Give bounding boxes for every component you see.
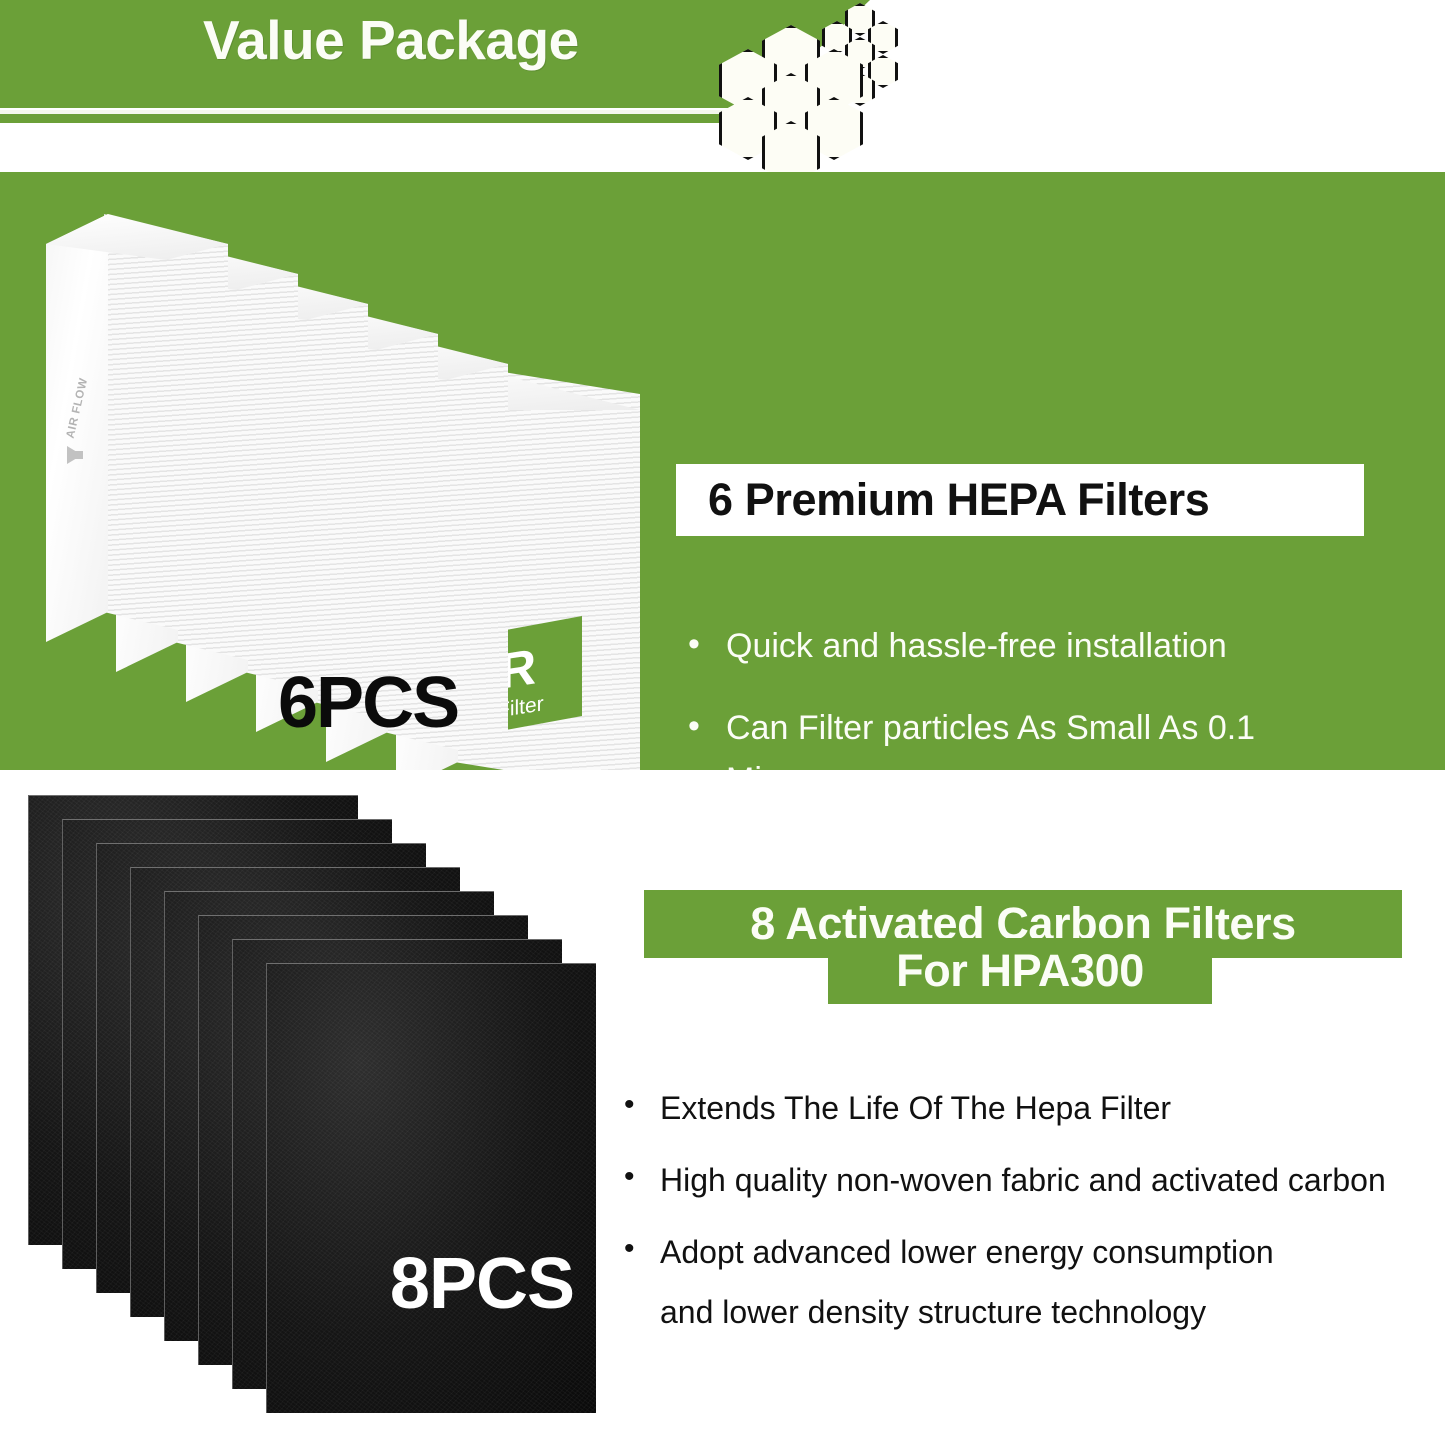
carbon-heading-text-line2: For HPA300: [896, 945, 1144, 997]
list-item-line2: and lower density structure technology: [660, 1290, 1445, 1334]
filter-pleated-side: [104, 214, 228, 642]
hepa-quantity-label: 6PCS: [278, 662, 458, 744]
list-item: Can Filter particles As Small As 0.1 Mic…: [676, 702, 1376, 770]
list-item: High quality non-woven fabric and activa…: [612, 1158, 1445, 1202]
carbon-feature-list: Extends The Life Of The Hepa Filter High…: [612, 1086, 1445, 1362]
carbon-filter-sheet-front: 8PCS: [266, 963, 596, 1413]
list-item: Quick and hassle-free installation: [676, 620, 1376, 672]
hepa-feature-list: Quick and hassle-free installation Can F…: [676, 620, 1376, 770]
hepa-filter-product-image: AIR FLOW AIR FLOW AIR FLOW: [46, 182, 656, 762]
airflow-arrow-icon: [67, 446, 82, 464]
page-title: Value Package: [203, 8, 579, 72]
infographic-page: Value Package AIR FLOW: [0, 0, 1445, 1430]
hepa-heading-text: 6 Premium HEPA Filters: [676, 474, 1209, 526]
list-item-line1: Adopt advanced lower energy consumption: [660, 1234, 1274, 1270]
hepa-section-panel: AIR FLOW AIR FLOW AIR FLOW: [0, 172, 1445, 770]
list-item: Adopt advanced lower energy consumption …: [612, 1230, 1445, 1334]
list-item: Extends The Life Of The Hepa Filter: [612, 1086, 1445, 1130]
honeycomb-hexagon-cluster-large-icon: [722, 25, 867, 150]
carbon-filter-product-image: 8PCS: [28, 795, 628, 1415]
carbon-quantity-label: 8PCS: [390, 1243, 574, 1325]
hepa-heading-banner: 6 Premium HEPA Filters: [676, 464, 1364, 536]
carbon-heading-banner-line2: For HPA300: [828, 938, 1212, 1004]
